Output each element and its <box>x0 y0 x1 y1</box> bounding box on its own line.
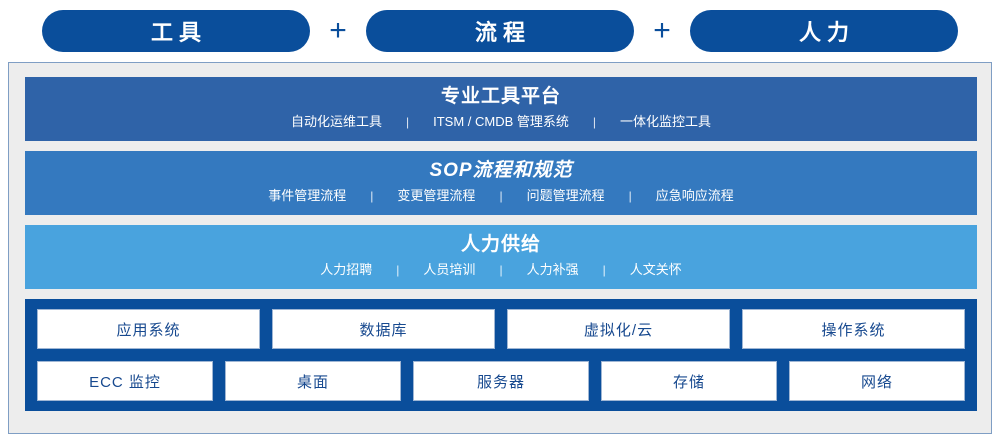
object-box-network[interactable]: 网络 <box>789 361 965 401</box>
plus-operator-2: + <box>634 16 690 46</box>
plus-operator-1: + <box>310 16 366 46</box>
layer-item: 人力补强 <box>513 258 593 282</box>
item-separator: | <box>386 258 409 282</box>
layer-item: 人力招聘 <box>306 258 386 282</box>
layer-item: 应急响应流程 <box>642 184 748 208</box>
pill-tools[interactable]: 工具 <box>42 10 310 52</box>
layer-manpower-supply-title: 人力供给 <box>25 232 977 258</box>
layer-item: 人员培训 <box>409 258 489 282</box>
item-separator: | <box>583 110 606 134</box>
layer-item: 一体化监控工具 <box>606 110 725 134</box>
layer-sop-process-title: SOP流程和规范 <box>25 158 977 184</box>
item-separator: | <box>360 184 383 208</box>
item-separator: | <box>593 258 616 282</box>
managed-objects-row-2: ECC 监控 桌面 服务器 存储 网络 <box>37 361 965 401</box>
object-box-desktop[interactable]: 桌面 <box>225 361 401 401</box>
layer-item: 人文关怀 <box>616 258 696 282</box>
layer-item: ITSM / CMDB 管理系统 <box>419 110 583 134</box>
managed-objects-row-1: 应用系统 数据库 虚拟化/云 操作系统 <box>37 309 965 349</box>
pill-process-label: 流程 <box>469 15 531 47</box>
object-box-ecc-monitoring[interactable]: ECC 监控 <box>37 361 213 401</box>
layer-tools-platform[interactable]: 专业工具平台 自动化运维工具 | ITSM / CMDB 管理系统 | 一体化监… <box>25 77 977 141</box>
architecture-diagram: 工具 + 流程 + 人力 专业工具平台 自动化运维工具 | ITSM / CMD… <box>0 0 1000 442</box>
layer-manpower-supply[interactable]: 人力供给 人力招聘 | 人员培训 | 人力补强 | 人文关怀 <box>25 225 977 289</box>
object-box-application-system[interactable]: 应用系统 <box>37 309 260 349</box>
layer-item: 事件管理流程 <box>254 184 360 208</box>
layer-tools-platform-title: 专业工具平台 <box>25 84 977 110</box>
pill-manpower[interactable]: 人力 <box>690 10 958 52</box>
pill-manpower-label: 人力 <box>793 15 855 47</box>
layer-item: 变更管理流程 <box>383 184 489 208</box>
item-separator: | <box>489 258 512 282</box>
managed-objects-panel: 应用系统 数据库 虚拟化/云 操作系统 ECC 监控 桌面 服务器 存储 网络 <box>25 299 977 411</box>
item-separator: | <box>489 184 512 208</box>
layer-sop-process-items: 事件管理流程 | 变更管理流程 | 问题管理流程 | 应急响应流程 <box>25 184 977 208</box>
item-separator: | <box>396 110 419 134</box>
object-box-database[interactable]: 数据库 <box>272 309 495 349</box>
object-box-server[interactable]: 服务器 <box>413 361 589 401</box>
object-box-virtualization-cloud[interactable]: 虚拟化/云 <box>507 309 730 349</box>
pill-tools-label: 工具 <box>145 15 207 47</box>
capability-panel: 专业工具平台 自动化运维工具 | ITSM / CMDB 管理系统 | 一体化监… <box>8 62 992 434</box>
object-box-operating-system[interactable]: 操作系统 <box>742 309 965 349</box>
layer-tools-platform-items: 自动化运维工具 | ITSM / CMDB 管理系统 | 一体化监控工具 <box>25 110 977 134</box>
layer-item: 问题管理流程 <box>513 184 619 208</box>
formula-row: 工具 + 流程 + 人力 <box>0 0 1000 62</box>
layer-sop-process[interactable]: SOP流程和规范 事件管理流程 | 变更管理流程 | 问题管理流程 | 应急响应… <box>25 151 977 215</box>
layer-item: 自动化运维工具 <box>277 110 396 134</box>
pill-process[interactable]: 流程 <box>366 10 634 52</box>
layer-manpower-supply-items: 人力招聘 | 人员培训 | 人力补强 | 人文关怀 <box>25 258 977 282</box>
object-box-storage[interactable]: 存储 <box>601 361 777 401</box>
item-separator: | <box>619 184 642 208</box>
